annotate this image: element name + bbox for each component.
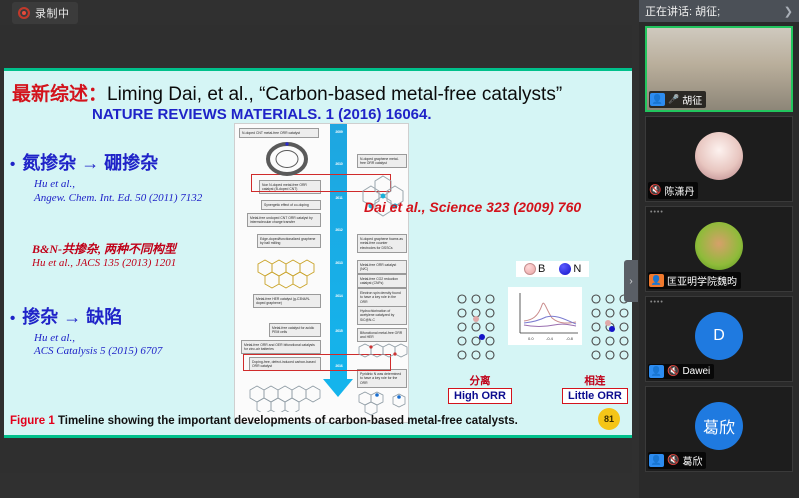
timeline-event-right: Electron spin density found to have a ke…: [357, 288, 407, 307]
bifunctional-sheet-icon: [355, 336, 409, 366]
host-icon: 👤: [649, 365, 664, 378]
avatar: D: [695, 312, 743, 360]
avatar: 葛欣: [695, 402, 743, 450]
timeline-year: 2015: [331, 329, 347, 333]
orr-label-separated: 分离 High ORR: [448, 373, 512, 404]
mic-muted-icon: 🔇: [667, 366, 679, 377]
legend-item-b: B: [524, 263, 545, 275]
timeline-event-right: Metal-free CO2 reduction catalyst (CNFs): [357, 274, 407, 288]
svg-text:0.0: 0.0: [528, 336, 534, 341]
svg-text:-0.8: -0.8: [566, 336, 574, 341]
svg-text:-0.4: -0.4: [546, 336, 554, 341]
participant-name: 葛欣: [682, 453, 702, 468]
bullet-ref-1a: Hu et al.,: [34, 178, 232, 192]
mic-muted-icon: 🔇: [667, 455, 679, 466]
participant-tile[interactable]: 👤 🎤 胡征: [645, 26, 793, 112]
slide-title-en: Liming Dai, et al., “Carbon-based metal-…: [107, 84, 562, 105]
legend-item-n: N: [559, 263, 581, 275]
rail-controls[interactable]: ❯: [784, 5, 793, 18]
bullet-item-2: • 掺杂 → 缺陷: [10, 303, 232, 329]
timeline-event-left: Metal-free catalyst for acidic PEM cells: [269, 323, 321, 337]
presentation-slide: 最新综述：Liming Dai, et al., “Carbon-based m…: [4, 68, 632, 438]
recording-indicator[interactable]: 录制中: [12, 2, 78, 24]
timeline-event-right: N-doped graphene metal-free ORR catalyst: [357, 154, 407, 168]
participant-tile[interactable]: •••• 👤 匡亚明学院魏昀: [645, 206, 793, 292]
nanotube-separated-icon: [452, 289, 504, 363]
participant-nameplate: 👤 🔇 Dawei: [648, 364, 714, 379]
collapse-panel-button[interactable]: ›: [624, 260, 638, 302]
recording-label: 录制中: [35, 5, 70, 21]
element-legend: B N: [516, 261, 589, 277]
slide-left-column: • 氮掺杂 → 硼掺杂 Hu et al., Angew. Chem. Int.…: [10, 149, 232, 359]
participant-name: 胡征: [682, 92, 702, 107]
record-dot-icon: [18, 7, 30, 19]
avatar: [695, 132, 743, 180]
chevron-right-icon: ›: [629, 276, 632, 287]
timeline-event-left: N-doped CNT metal-free ORR catalyst: [239, 128, 319, 138]
timeline-event-right: Hydrochlorination of acetylene catalyzed…: [357, 306, 407, 325]
timeline-year: 2010: [331, 162, 347, 166]
slide-title: 最新综述：Liming Dai, et al., “Carbon-based m…: [12, 79, 562, 106]
slide-title-cn: 最新综述：: [12, 84, 107, 105]
bullet-ref-2b: ACS Catalysis 5 (2015) 6707: [34, 345, 232, 359]
timeline-year: 2009: [331, 130, 347, 134]
slide-title-journal: NATURE REVIEWS MATERIALS. 1 (2016) 16064…: [92, 106, 432, 123]
participant-nameplate: 👤 🎤 胡征: [649, 91, 706, 108]
cohost-icon: 👤: [649, 274, 664, 287]
red-note-heading: B&N-共掺杂, 两种不同构型: [32, 240, 232, 257]
chevron-right-icon[interactable]: ❯: [784, 5, 793, 18]
figure-caption-prefix: Figure 1: [10, 415, 55, 427]
red-note-ref: Hu et al., JACS 135 (2013) 1201: [32, 257, 232, 269]
timeline-event-left: Edge-doped/functionalized graphene by ba…: [257, 234, 321, 248]
bullet-heading-1: 氮掺杂 → 硼掺杂: [22, 149, 158, 175]
timeline-event-left: Metal-free ORR and OER bifunctional cata…: [241, 340, 321, 354]
participant-tile[interactable]: •••• D 👤 🔇 Dawei: [645, 296, 793, 382]
legend-label-b: B: [538, 263, 545, 275]
figure-caption: Figure 1 Timeline showing the important …: [10, 415, 518, 427]
bullet-heading-2: 掺杂 → 缺陷: [22, 303, 122, 329]
active-speaker-label: 正在讲话: 胡征;: [645, 3, 720, 19]
participant-tile[interactable]: 🔇 陈潇丹: [645, 116, 793, 202]
participant-nameplate: 👤 匡亚明学院魏昀: [648, 272, 741, 289]
timeline-event-right: N-doped graphene foams as metal-free cou…: [357, 234, 407, 253]
bullet-dot-icon: •: [10, 311, 15, 326]
orr-box-little: Little ORR: [562, 388, 628, 404]
orr-label-connected: 相连 Little ORR: [562, 373, 628, 404]
timeline-event-left: Metal-free undoped CNT ORR catalyst by i…: [247, 213, 321, 227]
timeline-arrow-icon: [323, 379, 353, 397]
edge-doped-graphene-icon: [253, 250, 321, 292]
timeline-year: 2013: [331, 261, 347, 265]
participant-name: 匡亚明学院魏昀: [667, 273, 737, 288]
atom-n-icon: [559, 263, 571, 275]
timeline-event-left: Synergetic effect of co-doping: [261, 200, 321, 210]
spacer: [10, 269, 232, 303]
timeline-event-left: Metal-free HER catalyst (g-C3N4/N-doped …: [253, 294, 321, 308]
participant-nameplate: 👤 🔇 葛欣: [648, 452, 706, 469]
spacer: [10, 206, 232, 240]
bullet-item-1: • 氮掺杂 → 硼掺杂: [10, 149, 232, 175]
bullet-ref-2a: Hu et al.,: [34, 332, 232, 346]
cnt-ring-molecule-icon: [261, 140, 313, 178]
atom-b-icon: [524, 263, 536, 275]
timeline-event-right: Metal-free ORR catalyst (N/C): [357, 260, 407, 274]
figure-source-citation: Dai et al., Science 323 (2009) 760: [364, 199, 581, 215]
meeting-window: 录制中 最新综述：Liming Dai, et al., “Carbon-bas…: [0, 0, 799, 498]
active-speaker-bar: 正在讲话: 胡征; ❯: [639, 0, 799, 22]
legend-label-n: N: [573, 263, 581, 275]
tile-drag-dots-icon: ••••: [650, 299, 664, 306]
tile-drag-dots-icon: ••••: [650, 209, 664, 216]
timeline-year: 2011: [331, 196, 347, 200]
participant-rail: 正在讲话: 胡征; ❯ 👤 🎤 胡征 🔇 陈潇丹 ••••: [639, 0, 799, 498]
bullet-dot-icon: •: [10, 157, 15, 172]
figure-caption-text: Timeline showing the important developme…: [58, 415, 518, 427]
timeline-year: 2012: [331, 228, 347, 232]
participant-nameplate: 🔇 陈潇丹: [648, 182, 698, 199]
orr-box-high: High ORR: [448, 388, 512, 404]
page-number-badge: 81: [598, 408, 620, 430]
defect-carbon-sheet-icon: [243, 378, 323, 412]
orr-label-cn-2: 相连: [562, 373, 628, 388]
participant-name: Dawei: [682, 366, 710, 377]
cv-plot-inset: 0.0 -0.4 -0.8: [508, 287, 582, 345]
host-icon: 👤: [649, 454, 664, 467]
timeline-year: 2014: [331, 294, 347, 298]
bullet-ref-1b: Angew. Chem. Int. Ed. 50 (2011) 7132: [34, 192, 232, 206]
shared-screen-area: 最新综述：Liming Dai, et al., “Carbon-based m…: [0, 25, 632, 473]
timeline-figure: 2009 2010 2011 2012 2013 2014 2015 2016 …: [234, 123, 409, 423]
orr-label-cn-1: 分离: [448, 373, 512, 388]
mic-on-icon: 🎤: [668, 94, 679, 105]
avatar: [695, 222, 743, 270]
mic-muted-icon: 🔇: [649, 185, 661, 196]
participant-name: 陈潇丹: [664, 183, 694, 198]
participant-tile[interactable]: 葛欣 👤 🔇 葛欣: [645, 386, 793, 472]
host-icon: 👤: [650, 93, 665, 106]
